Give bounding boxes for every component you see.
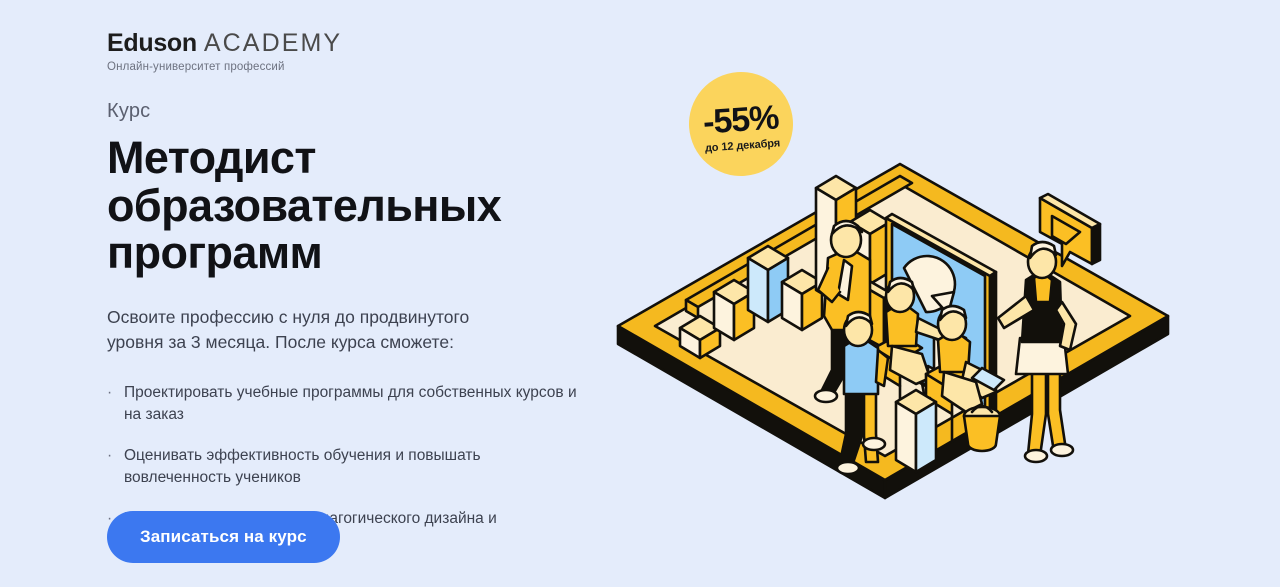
list-item: · Проектировать учебные программы для со… xyxy=(107,382,577,426)
benefit-text: Проектировать учебные программы для собс… xyxy=(124,382,577,426)
enroll-button[interactable]: Записаться на курс xyxy=(107,511,340,563)
logo-brand-bold: Eduson xyxy=(107,31,197,56)
course-kicker: Курс xyxy=(107,100,687,123)
bullet-marker-icon: · xyxy=(107,382,112,426)
discount-percent: -55% xyxy=(702,100,780,139)
trash-bin xyxy=(964,406,1000,451)
bullet-marker-icon: · xyxy=(107,445,112,489)
list-item: · Оценивать эффективность обучения и пов… xyxy=(107,445,577,489)
logo-wordmark: Eduson ACADEMY xyxy=(107,31,342,56)
foreground-bar xyxy=(896,390,936,472)
logo-tagline: Онлайн-университет профессий xyxy=(107,62,342,74)
hero-illustration xyxy=(600,150,1200,530)
logo-brand-light: ACADEMY xyxy=(204,31,342,56)
site-logo[interactable]: Eduson ACADEMY Онлайн-университет профес… xyxy=(107,31,342,74)
classroom-isometric-svg xyxy=(600,150,1200,530)
hero-lead-text: Освоите профессию с нуля до продвинутого… xyxy=(107,305,527,356)
benefit-text: Оценивать эффективность обучения и повыш… xyxy=(124,445,577,489)
